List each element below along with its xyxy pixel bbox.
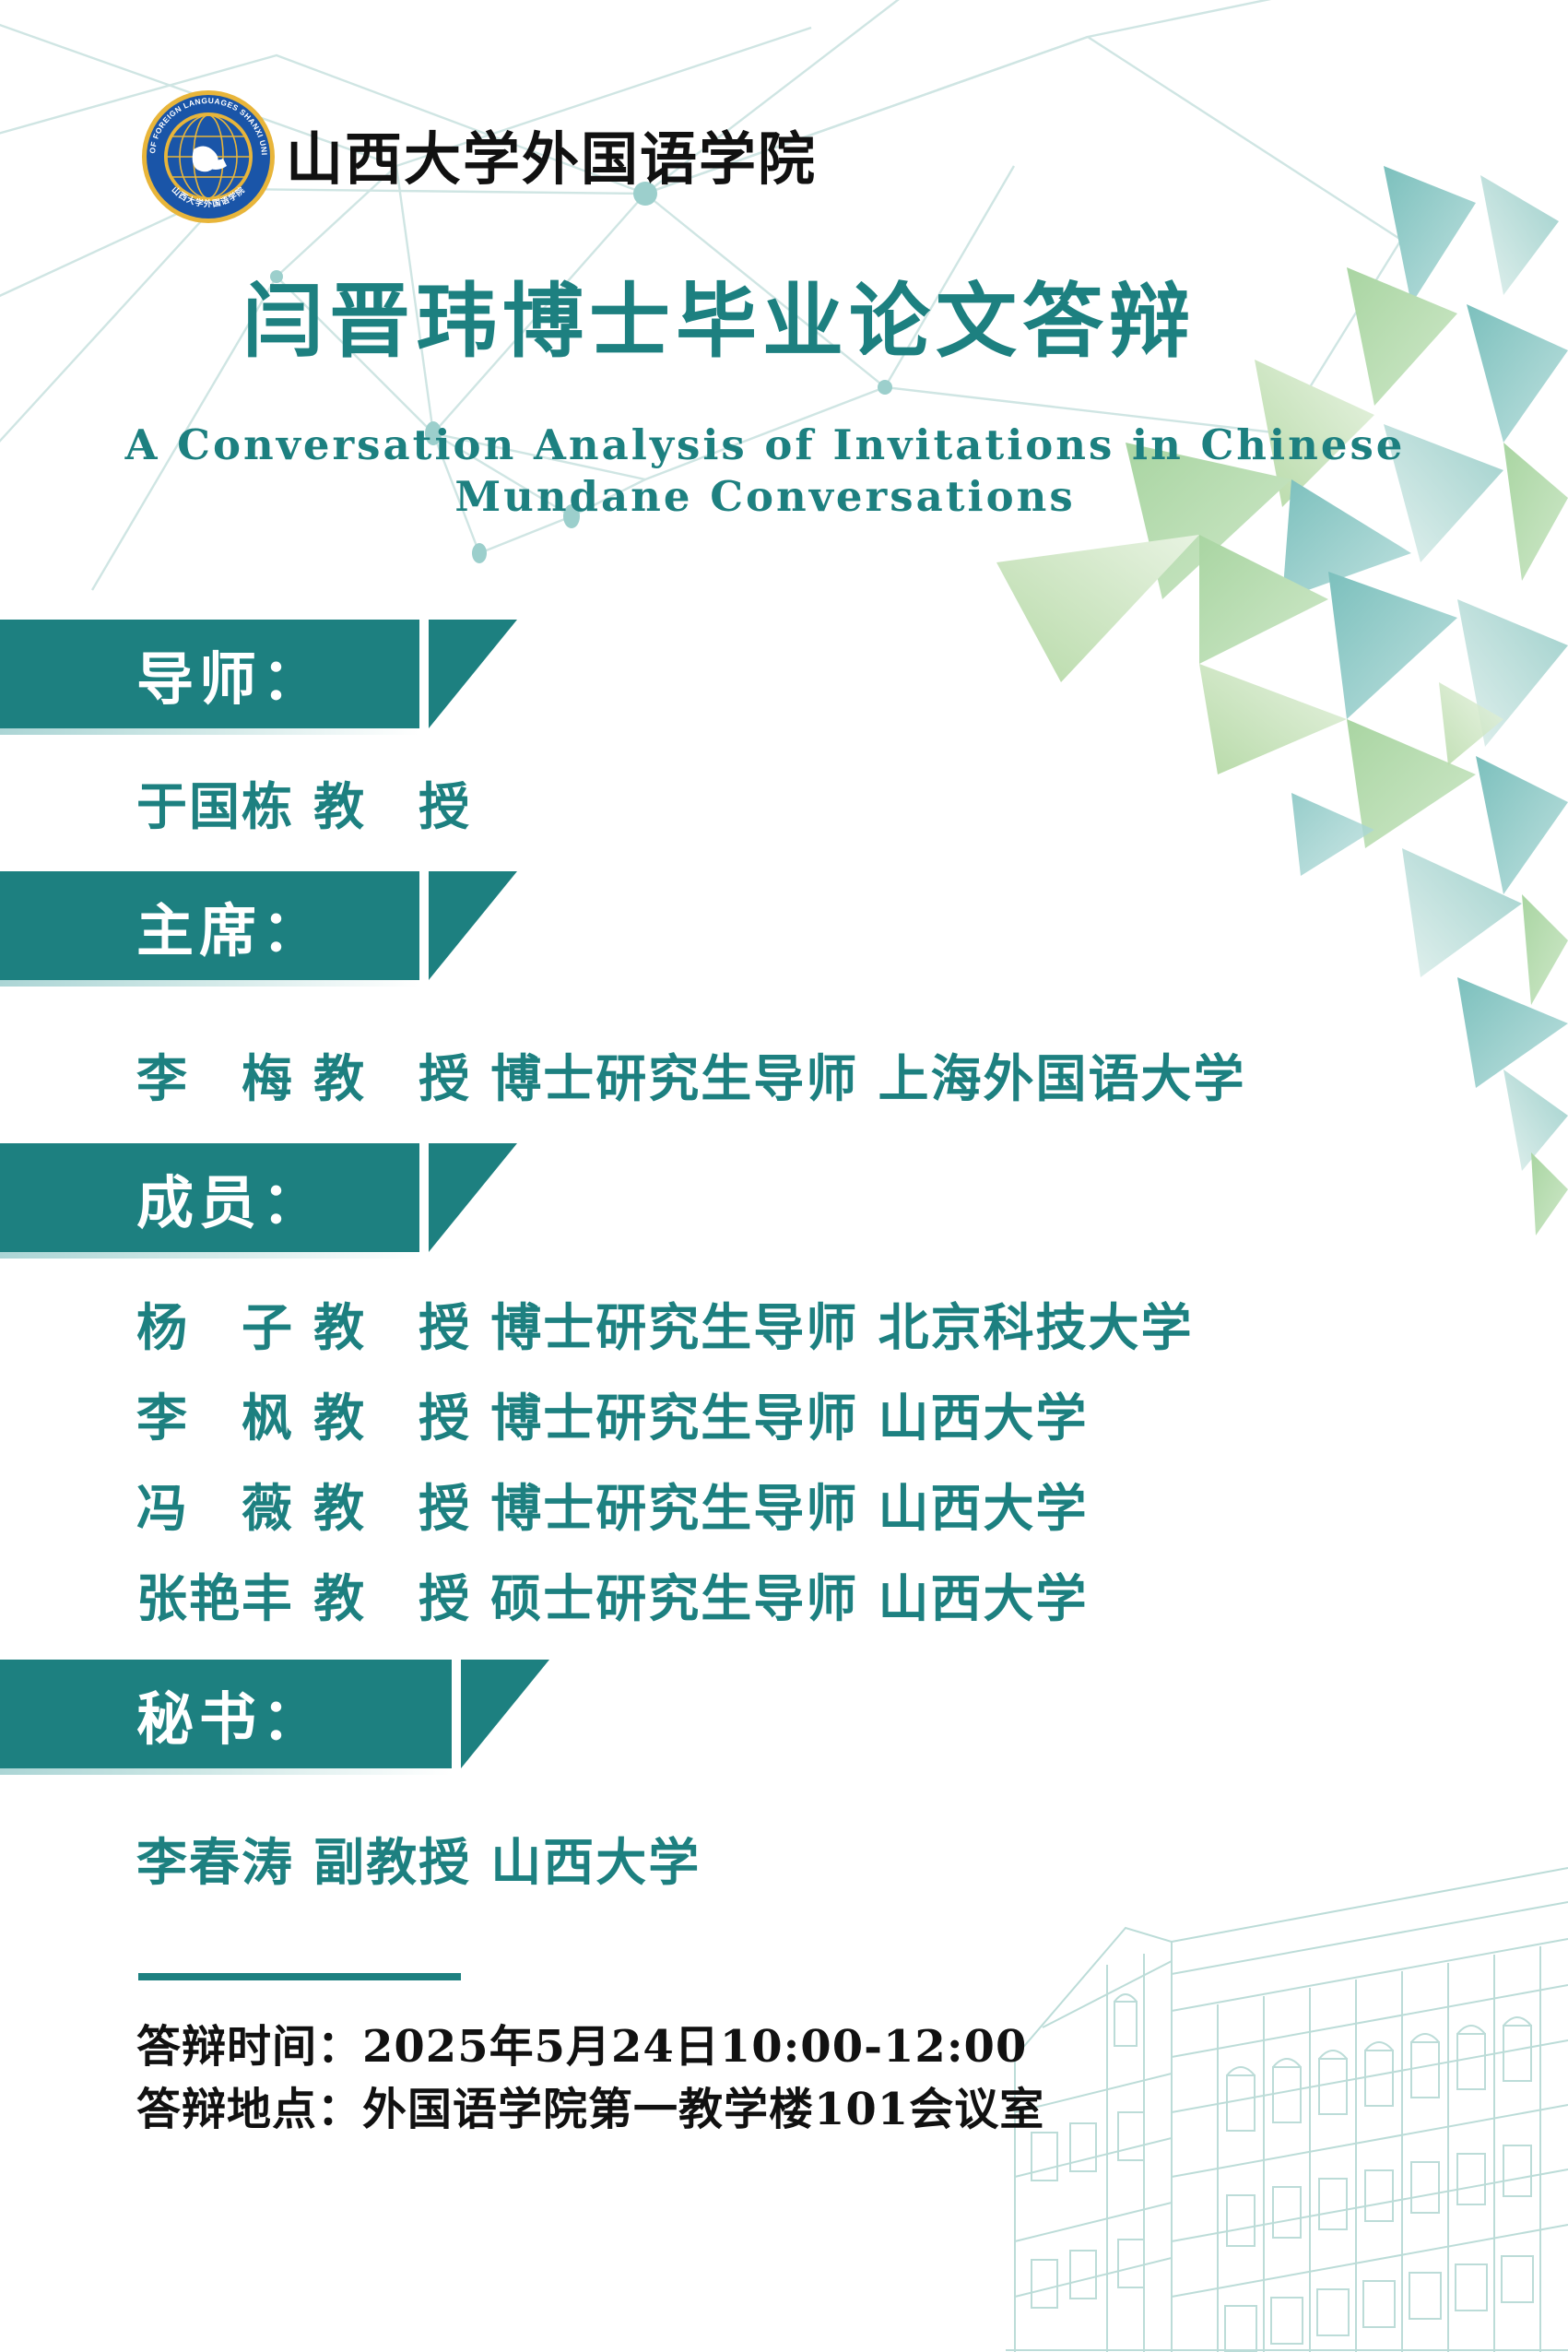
school-logo: SCHOOL OF FOREIGN LANGUAGES SHANXI UNIVE… [140, 89, 277, 225]
banner-flag [429, 620, 517, 728]
poster-root: SCHOOL OF FOREIGN LANGUAGES SHANXI UNIVE… [0, 0, 1568, 2352]
section-label-chair: 主席： [136, 884, 324, 967]
subtitle: A Conversation Analysis of Invitations i… [0, 420, 1530, 524]
section-label-advisor: 导师： [136, 632, 324, 715]
section-label-members: 成员： [136, 1156, 324, 1239]
chair-row-1: 李 梅 教 授 博士研究生导师 上海外国语大学 [136, 1037, 1245, 1111]
subtitle-line-2: Mundane Conversations [0, 471, 1530, 523]
section-banner-secretary: 秘书： [0, 1660, 535, 1768]
school-name: 山西大学外国语学院 [286, 112, 817, 195]
secretary-row-1: 李春涛 副教授 山西大学 [136, 1821, 701, 1895]
page-title: 闫晋玮博士毕业论文答辩 [0, 256, 1438, 373]
banner-flag [429, 1143, 517, 1252]
member-row-2: 李 枫 教 授 博士研究生导师 山西大学 [136, 1377, 1088, 1450]
defense-place: 答辩地点：外国语学院第一教学楼101会议室 [136, 2073, 1044, 2137]
banner-flag [429, 871, 517, 980]
section-label-secretary: 秘书： [136, 1672, 324, 1755]
defense-time: 答辩时间：2025年5月24日10:00-12:00 [136, 2010, 1027, 2074]
advisor-row-1: 于国栋 教 授 [136, 765, 471, 839]
subtitle-line-1: A Conversation Analysis of Invitations i… [0, 420, 1530, 471]
member-row-3: 冯 薇 教 授 博士研究生导师 山西大学 [136, 1467, 1088, 1541]
member-row-4: 张艳丰 教 授 硕士研究生导师 山西大学 [136, 1557, 1088, 1631]
footer-divider [138, 1973, 461, 1980]
section-banner-members: 成员： [0, 1143, 535, 1252]
member-row-1: 杨 子 教 授 博士研究生导师 北京科技大学 [136, 1286, 1193, 1360]
banner-flag [461, 1660, 549, 1768]
section-banner-chair: 主席： [0, 871, 535, 980]
section-banner-advisor: 导师： [0, 620, 535, 728]
